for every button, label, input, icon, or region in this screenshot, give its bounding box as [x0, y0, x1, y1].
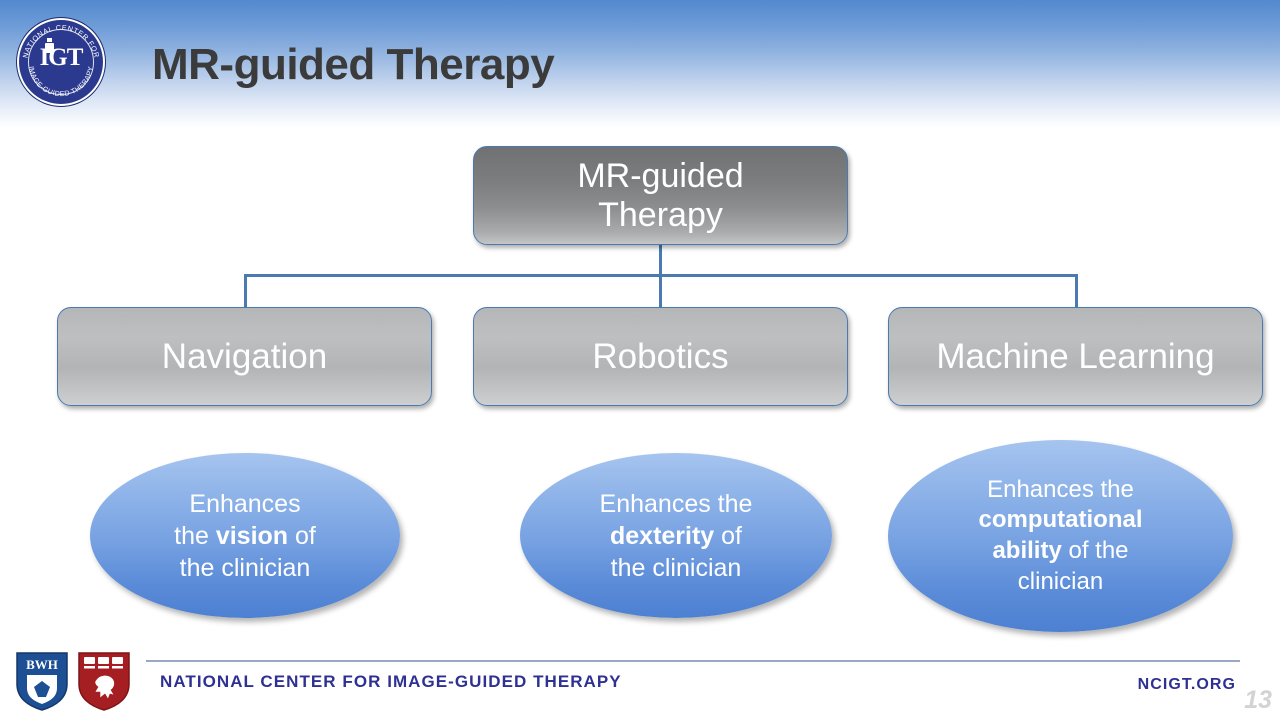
bubble-robotics-benefit[interactable]: Enhances thedexterity ofthe clinician: [520, 453, 832, 618]
bubble-0-bold: vision: [216, 522, 288, 550]
bubble-2-bold-b: ability: [992, 537, 1061, 564]
connector-drop-robotics: [659, 274, 662, 308]
svg-text:BWH: BWH: [26, 657, 58, 672]
node-branch-machine-learning[interactable]: Machine Learning: [888, 307, 1263, 406]
bubble-2-bold-a: computational: [978, 506, 1142, 533]
node-branch-navigation[interactable]: Navigation: [57, 307, 432, 406]
connector-drop-machine-learning: [1075, 274, 1078, 308]
connector-root-vertical: [659, 245, 662, 276]
bwh-shield-icon: BWH: [14, 650, 70, 712]
footer-organization-text: NATIONAL CENTER FOR IMAGE-GUIDED THERAPY: [160, 672, 622, 692]
node-root-line1: MR-guided: [577, 157, 743, 195]
bubble-navigation-benefit[interactable]: Enhancesthe vision ofthe clinician: [90, 453, 400, 618]
connector-drop-navigation: [244, 274, 247, 308]
page-number: 13: [1244, 686, 1272, 715]
footer-website-text: NCIGT.ORG: [1138, 676, 1236, 694]
node-branch-navigation-label: Navigation: [162, 337, 327, 376]
node-branch-robotics-label: Robotics: [592, 337, 728, 376]
harvard-shield-icon: [76, 650, 132, 712]
node-root-mr-guided-therapy[interactable]: MR-guided Therapy: [473, 146, 848, 245]
node-branch-machine-learning-label: Machine Learning: [936, 337, 1214, 376]
bubble-1-bold: dexterity: [610, 522, 714, 550]
org-chart-diagram: MR-guided Therapy Navigation Robotics Ma…: [0, 0, 1280, 720]
bubble-machine-learning-benefit[interactable]: Enhances thecomputationalability of thec…: [888, 440, 1233, 632]
footer-divider: [146, 660, 1240, 662]
node-root-line2: Therapy: [598, 196, 723, 234]
node-branch-robotics[interactable]: Robotics: [473, 307, 848, 406]
